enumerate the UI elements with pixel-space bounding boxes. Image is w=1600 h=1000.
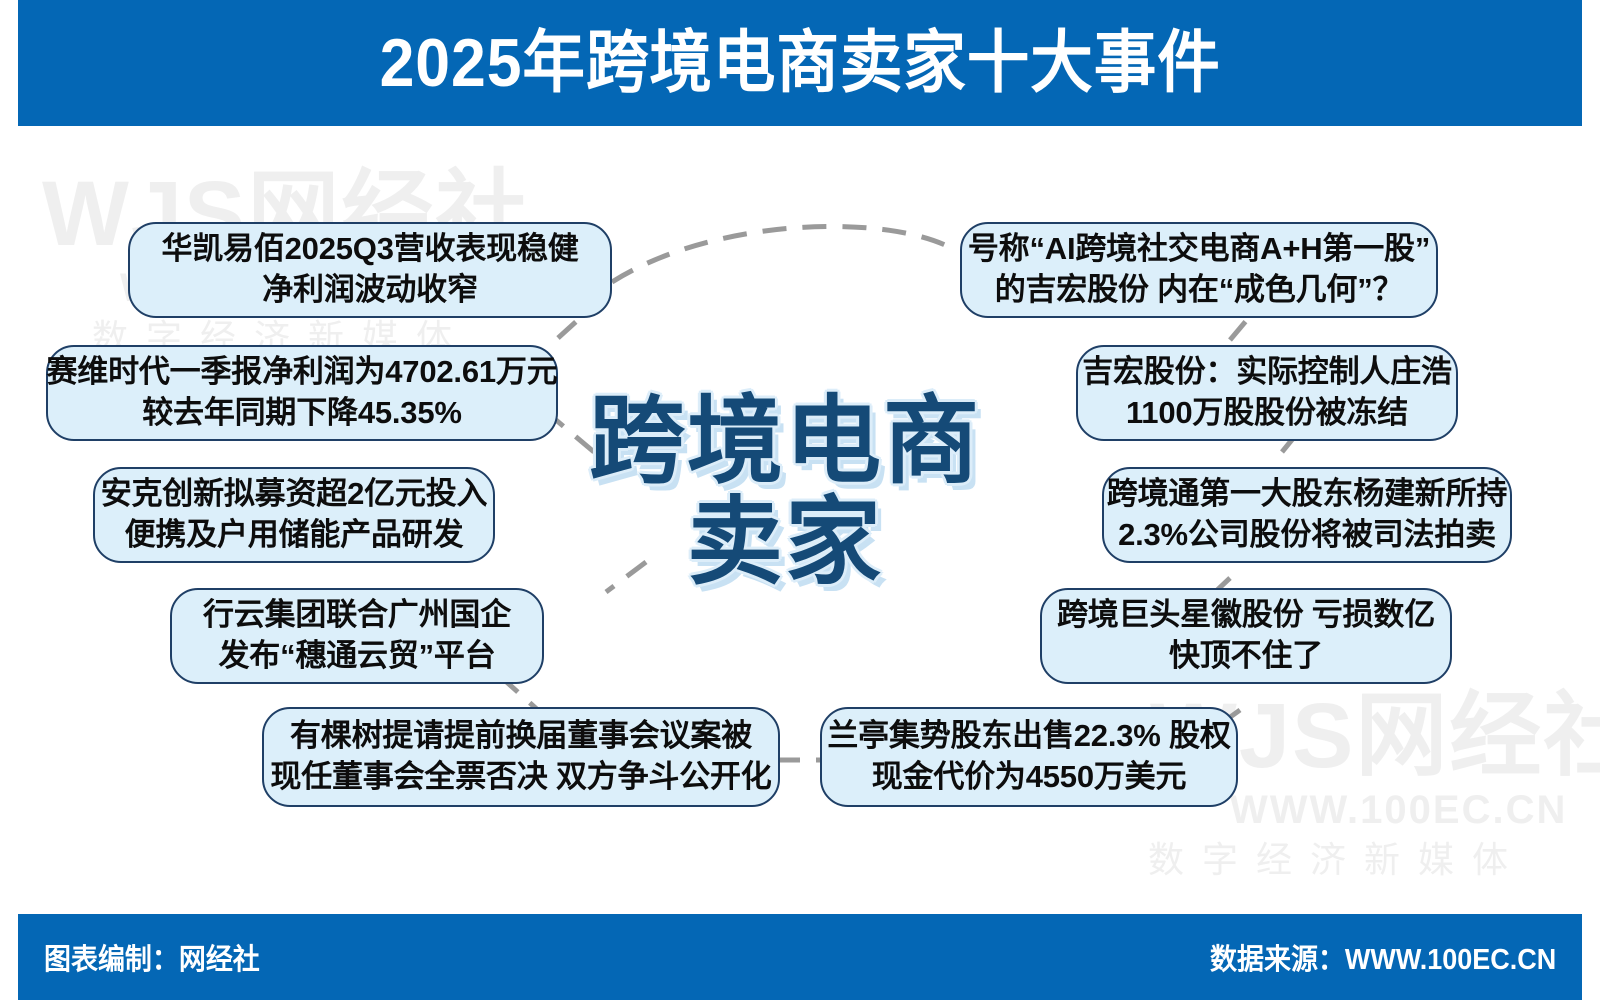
watermark-url-bottomright: WWW.100EC.CN — [1230, 790, 1567, 830]
event-line-1: 华凯易佰2025Q3营收表现稳健 — [161, 229, 578, 270]
event-text: 行云集团联合广州国企 发布“穗通云贸”平台 — [203, 595, 511, 677]
center-title-line1: 跨境电商 — [555, 392, 1015, 493]
event-box-anker-innovation[interactable]: 安克创新拟募资超2亿元投入 便携及户用储能产品研发 — [93, 467, 495, 563]
footer-source: 数据来源：WWW.100EC.CN — [1210, 936, 1556, 978]
watermark-tagline-bottomright: 数字经济新媒体 — [1148, 842, 1526, 878]
event-line-2: 较去年同期下降45.35% — [46, 393, 557, 434]
event-text: 号称“AI跨境社交电商A+H第一股” 的吉宏股份 内在“成色几何”？ — [968, 229, 1430, 311]
event-line-1: 有棵树提请提前换届董事会议案被 — [270, 716, 771, 757]
event-text: 吉宏股份：实际控制人庄浩 1100万股股份被冻结 — [1082, 352, 1452, 434]
event-box-xingyun-group[interactable]: 行云集团联合广州国企 发布“穗通云贸”平台 — [170, 588, 544, 684]
event-line-2: 2.3%公司股份将被司法拍卖 — [1107, 515, 1507, 556]
event-box-kuajingtong[interactable]: 跨境通第一大股东杨建新所持 2.3%公司股份将被司法拍卖 — [1102, 467, 1512, 563]
event-text: 有棵树提请提前换届董事会议案被 现任董事会全票否决 双方争斗公开化 — [270, 716, 771, 798]
footer-banner: 图表编制：网经社 数据来源：WWW.100EC.CN — [18, 914, 1582, 1000]
event-text: 赛维时代一季报净利润为4702.61万元 较去年同期下降45.35% — [46, 352, 557, 434]
event-line-1: 行云集团联合广州国企 — [203, 595, 511, 636]
event-text: 安克创新拟募资超2亿元投入 便携及户用储能产品研发 — [101, 474, 488, 556]
event-box-saiwei-shidai[interactable]: 赛维时代一季报净利润为4702.61万元 较去年同期下降45.35% — [46, 345, 558, 441]
event-line-1: 吉宏股份：实际控制人庄浩 — [1082, 352, 1452, 393]
event-line-2: 的吉宏股份 内在“成色几何”？ — [968, 270, 1430, 311]
infographic-page: WJS网经社 WWW.100EC.CN 数字经济新媒体 WJS网经社 WWW.1… — [0, 0, 1600, 1000]
event-line-1: 赛维时代一季报净利润为4702.61万元 — [46, 352, 557, 393]
center-title: 跨境电商 卖家 — [555, 392, 1015, 594]
connector-top-arc — [612, 226, 958, 282]
event-box-jihong-frozen[interactable]: 吉宏股份：实际控制人庄浩 1100万股股份被冻结 — [1076, 345, 1458, 441]
event-text: 兰亭集势股东出售22.3% 股权 现金代价为4550万美元 — [827, 716, 1230, 798]
page-title: 2025年跨境电商卖家十大事件 — [379, 29, 1220, 97]
event-box-huakai-yibai[interactable]: 华凯易佰2025Q3营收表现稳健 净利润波动收窄 — [128, 222, 612, 318]
event-line-2: 现任董事会全票否决 双方争斗公开化 — [270, 757, 771, 798]
event-box-youkeshu[interactable]: 有棵树提请提前换届董事会议案被 现任董事会全票否决 双方争斗公开化 — [262, 707, 780, 807]
event-box-lightinthebox[interactable]: 兰亭集势股东出售22.3% 股权 现金代价为4550万美元 — [820, 707, 1238, 807]
event-text: 跨境巨头星徽股份 亏损数亿 快顶不住了 — [1057, 595, 1435, 677]
event-line-2: 便携及户用储能产品研发 — [101, 515, 488, 556]
event-line-2: 现金代价为4550万美元 — [827, 757, 1230, 798]
event-line-2: 净利润波动收窄 — [161, 270, 578, 311]
event-line-2: 发布“穗通云贸”平台 — [203, 636, 511, 677]
footer-credit: 图表编制：网经社 — [44, 936, 260, 978]
event-line-1: 跨境通第一大股东杨建新所持 — [1107, 474, 1507, 515]
event-line-1: 安克创新拟募资超2亿元投入 — [101, 474, 488, 515]
event-text: 华凯易佰2025Q3营收表现稳健 净利润波动收窄 — [161, 229, 578, 311]
event-line-1: 兰亭集势股东出售22.3% 股权 — [827, 716, 1230, 757]
event-line-2: 快顶不住了 — [1057, 636, 1435, 677]
event-box-xinghui-shares[interactable]: 跨境巨头星徽股份 亏损数亿 快顶不住了 — [1040, 588, 1452, 684]
event-line-1: 号称“AI跨境社交电商A+H第一股” — [968, 229, 1430, 270]
event-text: 跨境通第一大股东杨建新所持 2.3%公司股份将被司法拍卖 — [1107, 474, 1507, 556]
center-title-line2: 卖家 — [555, 493, 1015, 594]
event-line-2: 1100万股股份被冻结 — [1082, 393, 1452, 434]
event-line-1: 跨境巨头星徽股份 亏损数亿 — [1057, 595, 1435, 636]
event-box-jihong-ah-first[interactable]: 号称“AI跨境社交电商A+H第一股” 的吉宏股份 内在“成色几何”？ — [960, 222, 1438, 318]
header-banner: 2025年跨境电商卖家十大事件 — [18, 0, 1582, 126]
